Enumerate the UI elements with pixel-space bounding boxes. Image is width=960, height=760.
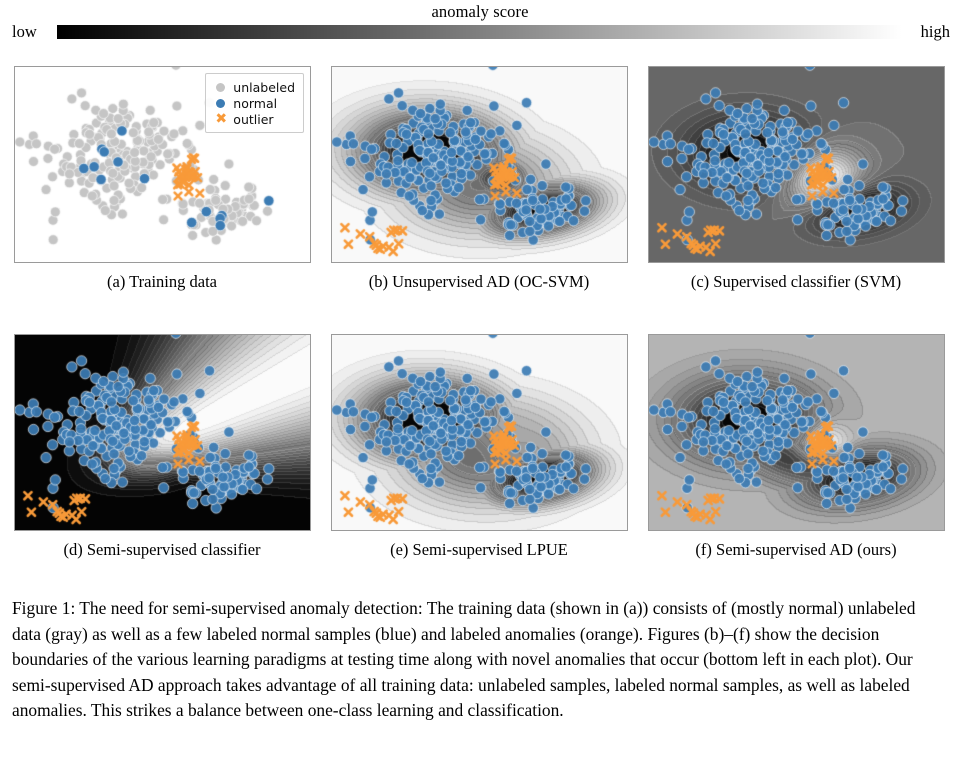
panel-b-unsupervised-ad (331, 66, 628, 263)
legend: unlabeled normal ✖ outlier (205, 73, 304, 133)
cross-marker-icon: ✖ (212, 111, 230, 127)
colorbar-title: anomaly score (0, 2, 960, 22)
colorbar-low-label: low (12, 22, 37, 42)
panel-b-canvas (332, 67, 628, 263)
panel-c-canvas (649, 67, 945, 263)
panel-c-supervised-classifier (648, 66, 945, 263)
legend-label-normal: normal (230, 96, 277, 111)
panel-a-training-data: unlabeled normal ✖ outlier (14, 66, 311, 263)
panel-d-semi-supervised-classifier (14, 334, 311, 531)
legend-label-unlabeled: unlabeled (230, 80, 295, 95)
colorbar: anomaly score low high (0, 0, 960, 52)
panel-e-canvas (332, 335, 628, 531)
legend-label-outlier: outlier (230, 112, 273, 127)
subcaption-f: (f) Semi-supervised AD (ours) (596, 540, 960, 560)
subcaption-c: (c) Supervised classifier (SVM) (596, 272, 960, 292)
colorbar-high-label: high (921, 22, 950, 42)
figure-caption: Figure 1: The need for semi-supervised a… (12, 596, 948, 724)
panel-f-canvas (649, 335, 945, 531)
colorbar-gradient (57, 25, 902, 39)
panel-e-semi-supervised-lpue (331, 334, 628, 531)
legend-item-outlier: ✖ outlier (212, 111, 295, 127)
panel-f-semi-supervised-ad (648, 334, 945, 531)
panel-d-canvas (15, 335, 311, 531)
circle-marker-icon (212, 79, 230, 95)
legend-item-unlabeled: unlabeled (212, 79, 295, 95)
